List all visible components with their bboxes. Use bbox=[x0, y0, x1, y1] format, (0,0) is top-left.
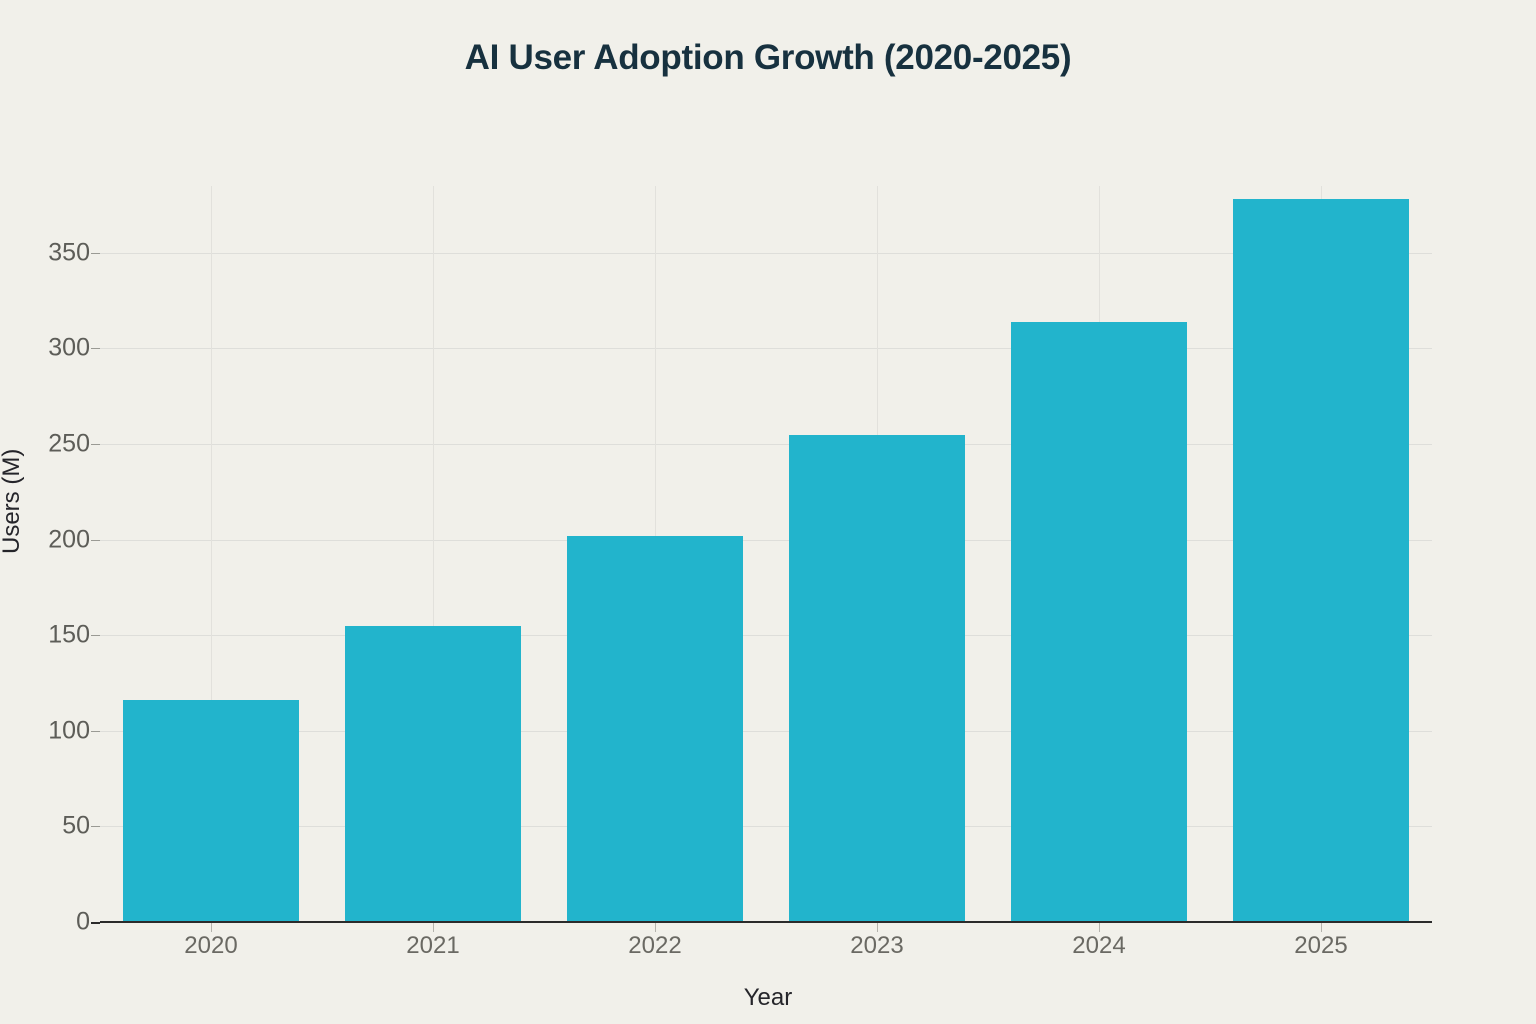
y-tick-label: 50 bbox=[10, 812, 90, 841]
x-axis-title: Year bbox=[0, 984, 1536, 1012]
x-tick-mark bbox=[655, 923, 656, 932]
x-axis-line bbox=[100, 921, 1432, 923]
y-tick-mark bbox=[91, 826, 100, 827]
y-tick-mark bbox=[91, 444, 100, 445]
y-tick-label: 250 bbox=[10, 430, 90, 459]
x-tick-label-2024: 2024 bbox=[999, 932, 1199, 960]
x-tick-mark bbox=[877, 923, 878, 932]
y-tick-mark bbox=[91, 731, 100, 732]
bar-2025[interactable] bbox=[1233, 199, 1409, 922]
y-tick-label: 0 bbox=[10, 908, 90, 937]
x-tick-label-2021: 2021 bbox=[333, 932, 533, 960]
bar-2024[interactable] bbox=[1011, 322, 1187, 922]
bar-2023[interactable] bbox=[789, 435, 965, 922]
y-tick-mark bbox=[91, 348, 100, 349]
x-tick-mark bbox=[1321, 923, 1322, 932]
x-tick-mark bbox=[211, 923, 212, 932]
x-tick-label-2022: 2022 bbox=[555, 932, 755, 960]
y-tick-label: 350 bbox=[10, 238, 90, 267]
bar-2020[interactable] bbox=[123, 700, 299, 922]
y-tick-mark bbox=[91, 635, 100, 636]
y-tick-label: 200 bbox=[10, 525, 90, 554]
y-tick-mark bbox=[91, 540, 100, 541]
bar-chart: AI User Adoption Growth (2020-2025) User… bbox=[0, 0, 1536, 1024]
bar-2022[interactable] bbox=[567, 536, 743, 922]
y-tick-mark bbox=[91, 253, 100, 254]
x-tick-label-2020: 2020 bbox=[111, 932, 311, 960]
y-tick-label: 300 bbox=[10, 334, 90, 363]
x-tick-label-2023: 2023 bbox=[777, 932, 977, 960]
bar-2021[interactable] bbox=[345, 626, 521, 922]
y-tick-mark bbox=[91, 922, 100, 924]
x-tick-label-2025: 2025 bbox=[1221, 932, 1421, 960]
x-tick-mark bbox=[433, 923, 434, 932]
y-tick-label: 100 bbox=[10, 716, 90, 745]
plot-area bbox=[100, 186, 1432, 922]
chart-title: AI User Adoption Growth (2020-2025) bbox=[0, 38, 1536, 78]
x-tick-mark bbox=[1099, 923, 1100, 932]
y-tick-label: 150 bbox=[10, 621, 90, 650]
